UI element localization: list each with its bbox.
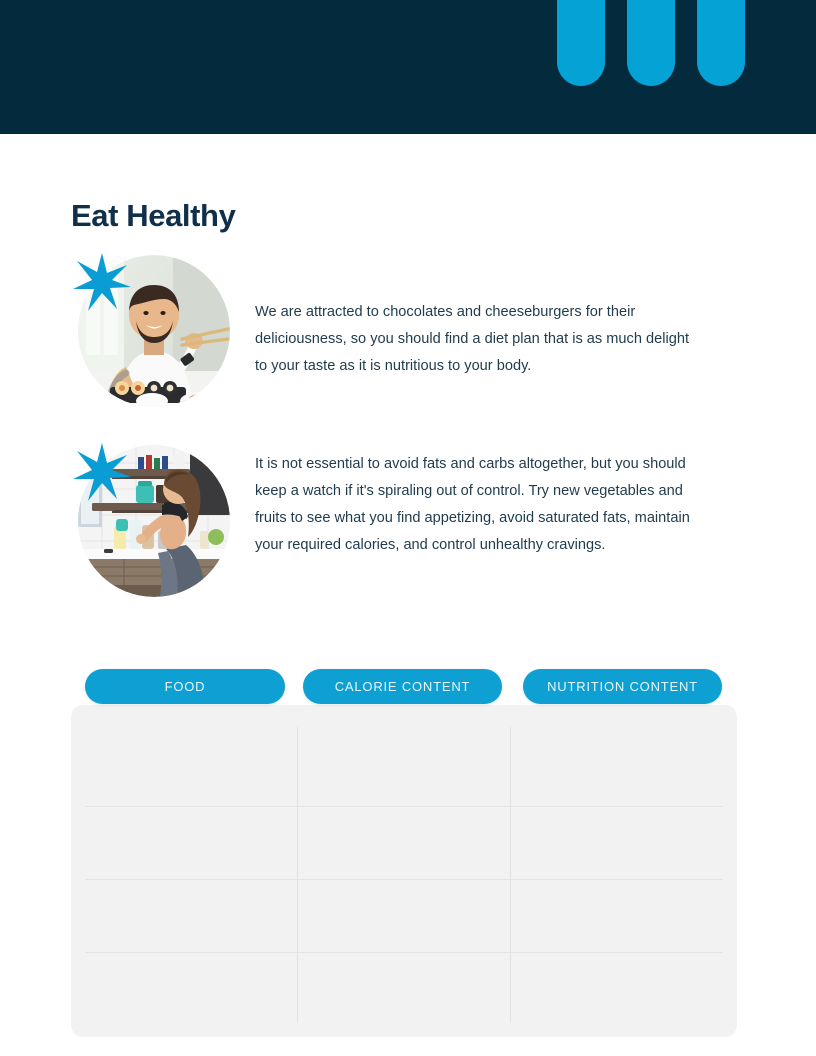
feature-media-2	[71, 445, 229, 603]
feature-text-1: We are attracted to chocolates and chees…	[255, 255, 705, 380]
table-panel	[71, 705, 737, 1037]
feature-photo-2	[78, 445, 230, 597]
table-header-food[interactable]: FOOD	[85, 669, 285, 704]
table-header-row: FOOD CALORIE CONTENT NUTRITION CONTENT	[71, 669, 737, 705]
header-bar-group	[557, 0, 747, 86]
table-header-calorie-content[interactable]: CALORIE CONTENT	[303, 669, 502, 704]
feature-text-2: It is not essential to avoid fats and ca…	[255, 445, 705, 559]
feature-row-1: We are attracted to chocolates and chees…	[71, 255, 731, 413]
header-bar-1	[557, 0, 605, 86]
table-row-divider-2	[85, 879, 723, 880]
table-header-nutrition-content[interactable]: NUTRITION CONTENT	[523, 669, 722, 704]
page-root: Eat Healthy	[0, 0, 816, 1056]
header-bar-2	[627, 0, 675, 86]
header-bar-3	[697, 0, 745, 86]
header-band	[0, 0, 816, 134]
table-row-divider-1	[85, 806, 723, 807]
table-column-divider-1	[297, 727, 298, 1023]
table-column-divider-2	[510, 727, 511, 1023]
feature-media-1	[71, 255, 229, 413]
main-content: Eat Healthy	[0, 134, 816, 1056]
feature-photo-1	[78, 255, 230, 407]
table-row-divider-3	[85, 952, 723, 953]
page-title: Eat Healthy	[71, 198, 235, 234]
feature-row-2: It is not essential to avoid fats and ca…	[71, 445, 731, 603]
